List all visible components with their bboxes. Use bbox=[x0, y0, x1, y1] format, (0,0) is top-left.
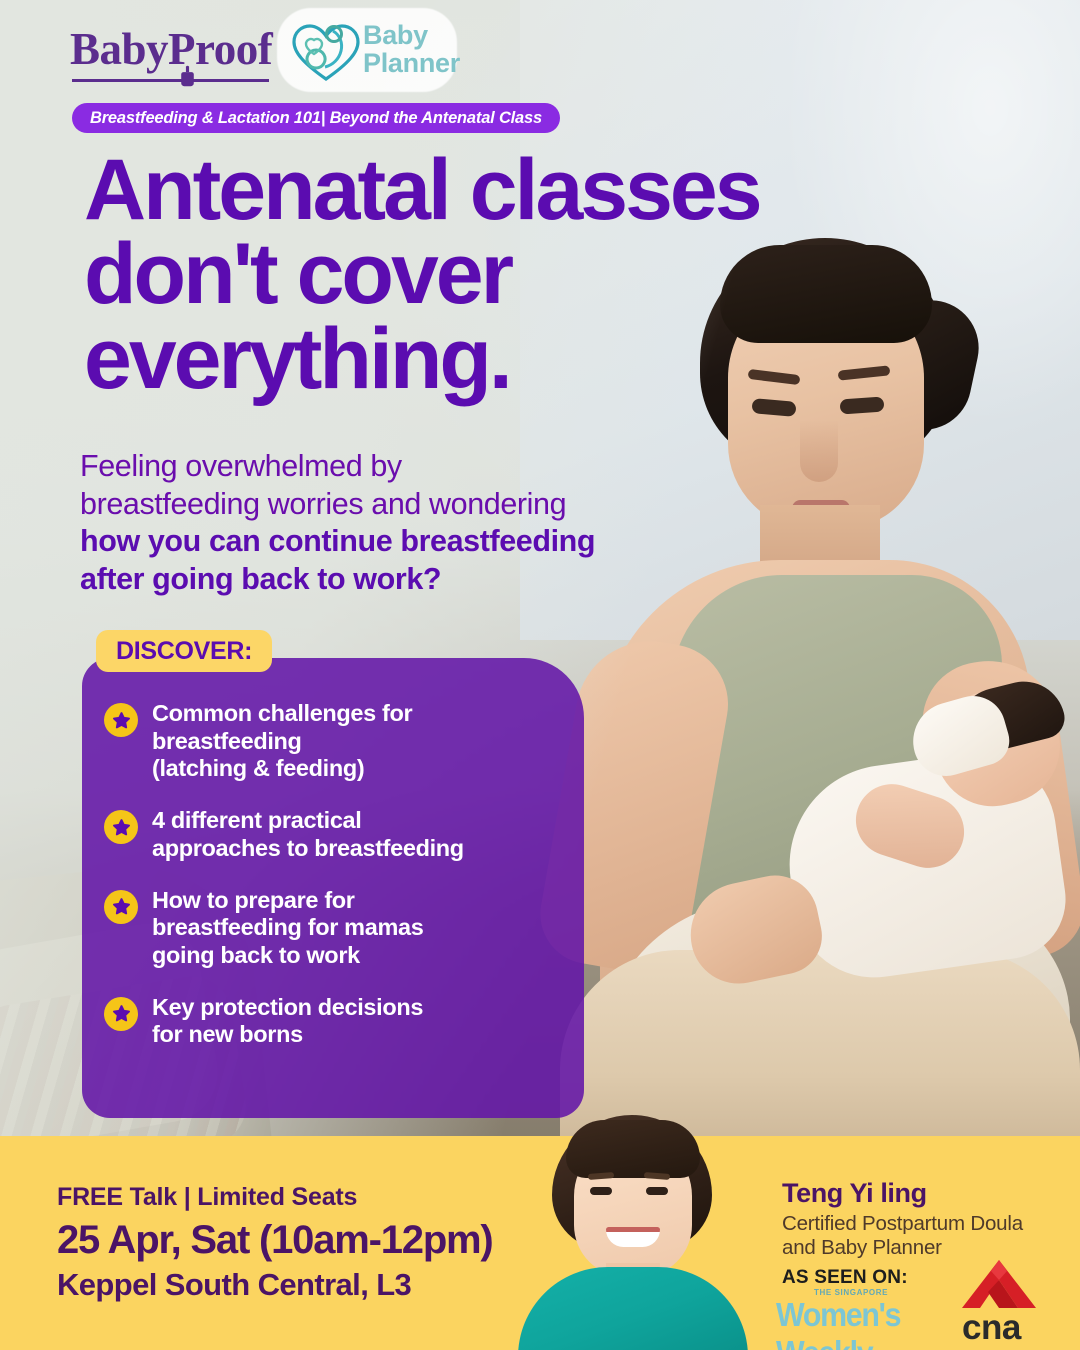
speaker-eye-left bbox=[590, 1187, 612, 1195]
bullet-3-line-2: breastfeeding for mamas bbox=[152, 914, 423, 940]
star-icon bbox=[104, 810, 138, 844]
speaker-role-line-2: and Baby Planner bbox=[782, 1236, 942, 1259]
bullet-3-line-3: going back to work bbox=[152, 942, 360, 968]
speaker-eye-right bbox=[646, 1187, 668, 1195]
speaker-role-line-1: Certified Postpartum Doula bbox=[782, 1212, 1023, 1235]
speaker-smile bbox=[606, 1227, 660, 1247]
star-icon bbox=[104, 703, 138, 737]
speaker-role: Certified Postpartum Doula and Baby Plan… bbox=[782, 1212, 1023, 1260]
list-item-text: 4 different practical approaches to brea… bbox=[152, 807, 464, 862]
bullet-1-line-2: breastfeeding bbox=[152, 728, 302, 754]
speaker-teal-top bbox=[518, 1267, 748, 1350]
subheading-line-1: Feeling overwhelmed by bbox=[80, 448, 660, 486]
list-item-text: Key protection decisions for new borns bbox=[152, 994, 423, 1049]
discover-list: Common challenges for breastfeeding (lat… bbox=[104, 700, 574, 1073]
discover-card: Common challenges for breastfeeding (lat… bbox=[82, 658, 584, 1118]
bullet-2-line-1: 4 different practical bbox=[152, 807, 361, 833]
bullet-1-line-1: Common challenges for bbox=[152, 700, 412, 726]
babyplanner-line2: Planner bbox=[363, 48, 460, 78]
subheading-bold-line-2: after going back to work? bbox=[80, 561, 660, 599]
star-icon bbox=[104, 890, 138, 924]
babyplanner-line1: Baby bbox=[363, 20, 428, 50]
event-date-time: 25 Apr, Sat (10am-12pm) bbox=[57, 1218, 493, 1263]
star-icon bbox=[104, 997, 138, 1031]
list-item: Key protection decisions for new borns bbox=[104, 994, 574, 1049]
list-item-text: Common challenges for breastfeeding (lat… bbox=[152, 700, 412, 783]
cna-logo: cna bbox=[958, 1258, 1040, 1344]
list-item-text: How to prepare for breastfeeding for mam… bbox=[152, 887, 423, 970]
event-availability: FREE Talk | Limited Seats bbox=[57, 1183, 493, 1212]
mother-baby-heart-icon bbox=[289, 17, 363, 85]
speaker-fringe bbox=[566, 1120, 700, 1178]
cna-wordmark: cna bbox=[962, 1308, 1021, 1348]
list-item: Common challenges for breastfeeding (lat… bbox=[104, 700, 574, 783]
subheading-line-2: breastfeeding worries and wondering bbox=[80, 486, 660, 524]
header: BabyProof Baby Planner bbox=[0, 0, 1080, 100]
bullet-1-line-3: (latching & feeding) bbox=[152, 755, 364, 781]
headline-line-3: everything. bbox=[84, 317, 884, 401]
headline-line-2: don't cover bbox=[84, 232, 884, 316]
babyplanner-logo: Baby Planner bbox=[277, 8, 457, 92]
bullet-4-line-1: Key protection decisions bbox=[152, 994, 423, 1020]
headline-line-1: Antenatal classes bbox=[84, 148, 884, 232]
babyproof-logo: BabyProof bbox=[70, 27, 272, 72]
speaker-portrait bbox=[490, 1115, 760, 1350]
list-item: 4 different practical approaches to brea… bbox=[104, 807, 574, 862]
womens-weekly-name: Women's Weekly bbox=[776, 1296, 937, 1350]
speaker-info: Teng Yi ling Certified Postpartum Doula … bbox=[782, 1178, 1023, 1260]
babyproof-logo-text: BabyProof bbox=[70, 24, 272, 74]
speaker-name: Teng Yi ling bbox=[782, 1178, 1023, 1209]
subheading: Feeling overwhelmed by breastfeeding wor… bbox=[80, 448, 660, 598]
subheading-bold-line-1: how you can continue breastfeeding bbox=[80, 523, 660, 561]
discover-badge: DISCOVER: bbox=[96, 630, 272, 672]
page-title: Antenatal classes don't cover everything… bbox=[84, 148, 884, 401]
as-seen-on-label: AS SEEN ON: bbox=[782, 1267, 908, 1289]
bullet-3-line-1: How to prepare for bbox=[152, 887, 355, 913]
cna-triangle-icon bbox=[958, 1258, 1040, 1310]
poster-root: BabyProof Baby Planner Breastfeeding & L bbox=[0, 0, 1080, 1350]
babyproof-logo-underline bbox=[72, 79, 269, 82]
course-banner: Breastfeeding & Lactation 101| Beyond th… bbox=[72, 103, 560, 133]
babyplanner-logo-text: Baby Planner bbox=[363, 22, 460, 77]
womens-weekly-logo: THE SINGAPORE Women's Weekly bbox=[776, 1288, 951, 1334]
bullet-4-line-2: for new borns bbox=[152, 1021, 303, 1047]
bullet-2-line-2: approaches to breastfeeding bbox=[152, 835, 464, 861]
event-details: FREE Talk | Limited Seats 25 Apr, Sat (1… bbox=[57, 1183, 493, 1303]
baby-bottle-icon bbox=[178, 65, 197, 87]
event-venue: Keppel South Central, L3 bbox=[57, 1267, 493, 1303]
list-item: How to prepare for breastfeeding for mam… bbox=[104, 887, 574, 970]
